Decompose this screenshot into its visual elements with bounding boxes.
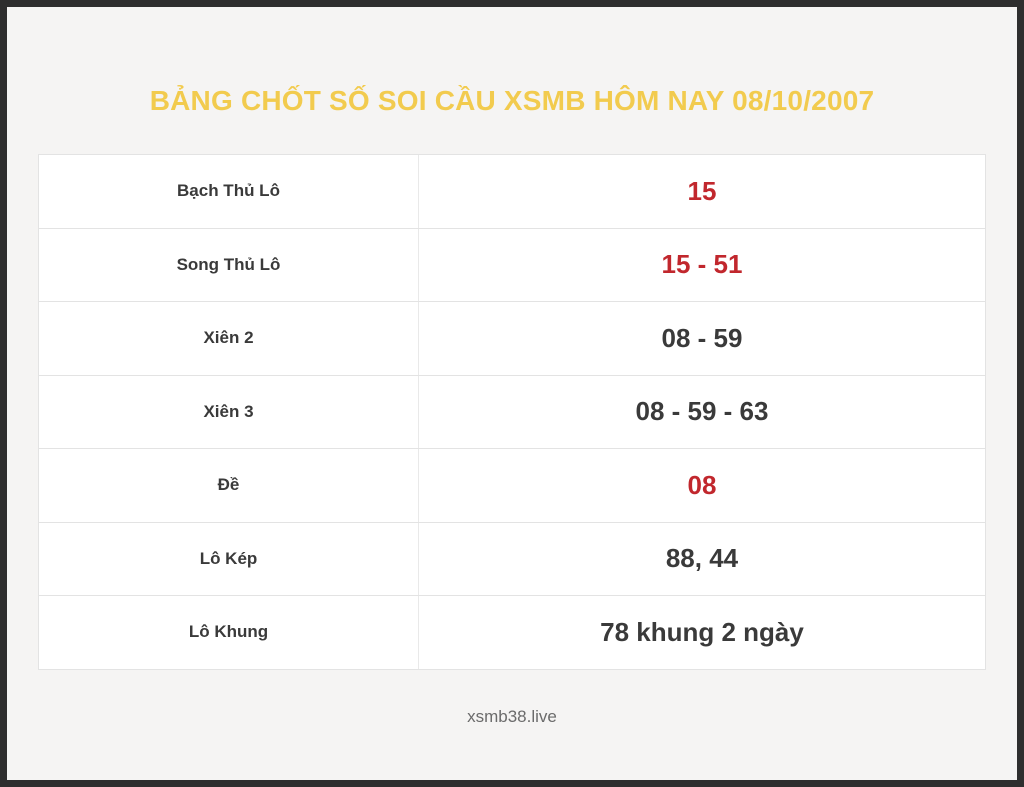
table-row: Xiên 2 08 - 59 (39, 302, 985, 376)
row-value: 78 khung 2 ngày (419, 596, 985, 669)
table-row: Lô Khung 78 khung 2 ngày (39, 596, 985, 670)
table-row: Bạch Thủ Lô 15 (39, 155, 985, 229)
poster-frame: BẢNG CHỐT SỐ SOI CẦU XSMB HÔM NAY 08/10/… (7, 7, 1017, 780)
row-label: Lô Khung (39, 596, 419, 669)
table-row: Song Thủ Lô 15 - 51 (39, 229, 985, 303)
row-value: 15 (419, 155, 985, 228)
table-row: Đề 08 (39, 449, 985, 523)
table-row: Lô Kép 88, 44 (39, 523, 985, 597)
row-value: 88, 44 (419, 523, 985, 596)
prediction-table: Bạch Thủ Lô 15 Song Thủ Lô 15 - 51 Xiên … (38, 154, 986, 670)
row-label: Lô Kép (39, 523, 419, 596)
row-label: Đề (39, 449, 419, 522)
row-value: 08 - 59 - 63 (419, 376, 985, 449)
row-value: 08 (419, 449, 985, 522)
page-title: BẢNG CHỐT SỐ SOI CẦU XSMB HÔM NAY 08/10/… (7, 85, 1017, 117)
row-value: 15 - 51 (419, 229, 985, 302)
row-label: Bạch Thủ Lô (39, 155, 419, 228)
site-watermark: xsmb38.live (7, 707, 1017, 727)
table-row: Xiên 3 08 - 59 - 63 (39, 376, 985, 450)
row-label: Song Thủ Lô (39, 229, 419, 302)
row-value: 08 - 59 (419, 302, 985, 375)
row-label: Xiên 2 (39, 302, 419, 375)
row-label: Xiên 3 (39, 376, 419, 449)
